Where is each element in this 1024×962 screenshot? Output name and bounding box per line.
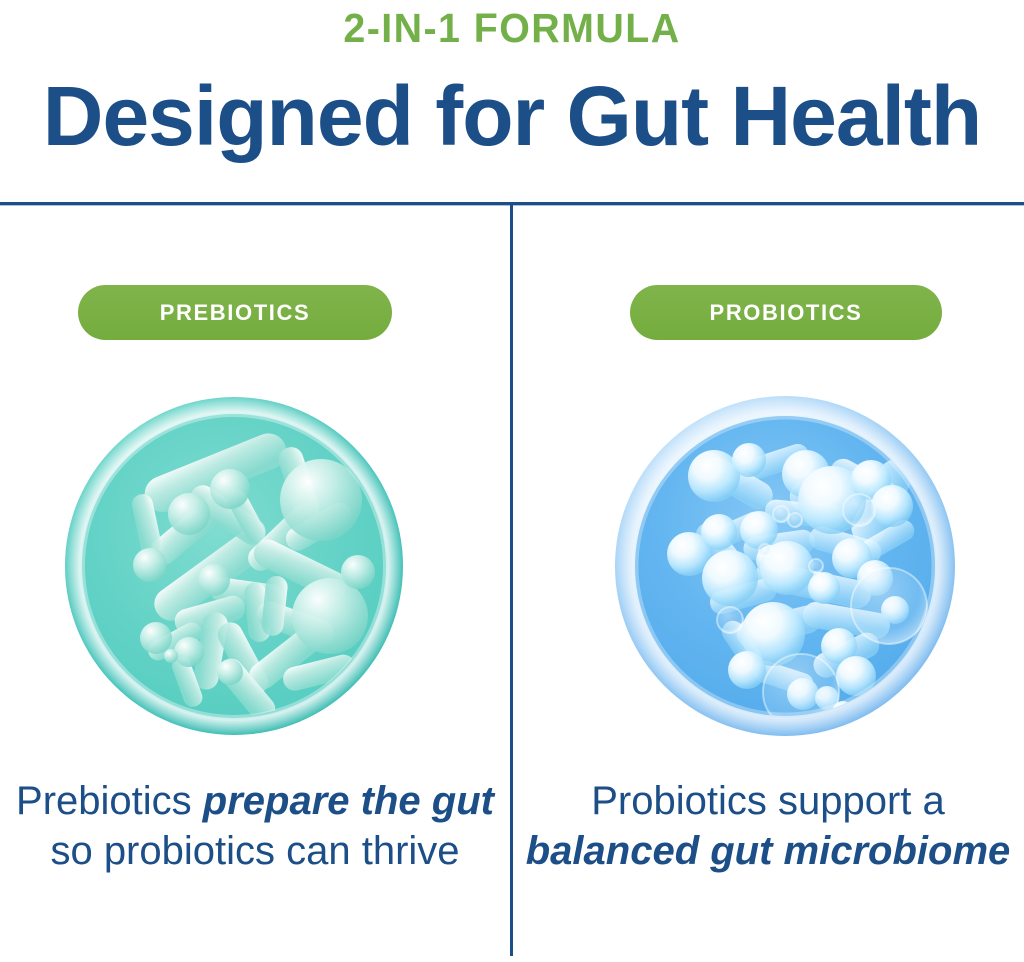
badge-probiotics[interactable]: PROBIOTICS <box>630 285 942 340</box>
column-prebiotics: PREBIOTICS <box>0 204 510 962</box>
caption-tail: so probiotics can thrive <box>50 829 459 873</box>
eyebrow-text: 2-IN-1 FORMULA <box>20 4 1003 52</box>
caption-lead: Prebiotics <box>16 779 203 823</box>
caption-prebiotics: Prebiotics prepare the gut so probiotics… <box>12 776 498 876</box>
caption-probiotics: Probiotics support a balanced gut microb… <box>525 776 1011 876</box>
header: 2-IN-1 FORMULA Designed for Gut Health <box>0 0 1024 204</box>
badge-prebiotics[interactable]: PREBIOTICS <box>78 285 392 340</box>
caption-lead: Probiotics support a <box>591 779 945 823</box>
probiotic-microbe-sphere-illustration <box>613 394 957 738</box>
prebiotic-bacteria-sphere-illustration <box>62 394 406 738</box>
caption-emphasis: balanced gut microbiome <box>526 829 1011 873</box>
column-probiotics: PROBIOTICS <box>513 204 1023 962</box>
caption-emphasis: prepare the gut <box>203 779 494 823</box>
page-title: Designed for Gut Health <box>0 68 1024 164</box>
